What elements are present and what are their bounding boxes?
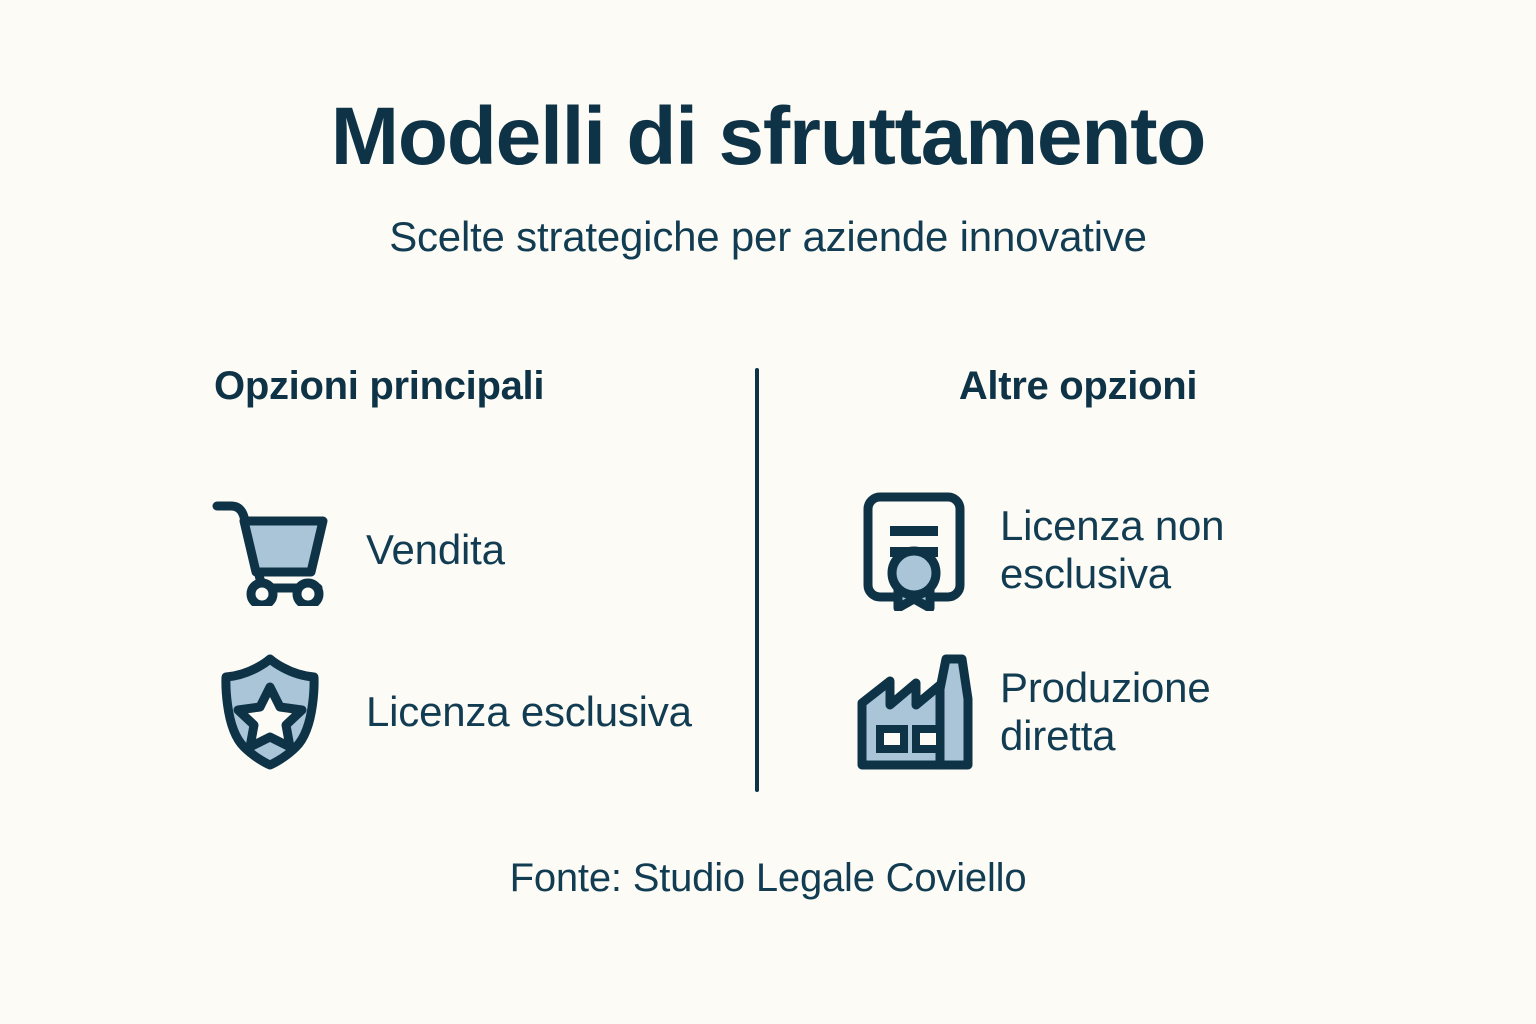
- column-opzioni-principali: Opzioni principali Vendita: [150, 366, 730, 782]
- column-heading-left: Opzioni principali: [150, 366, 730, 406]
- column-heading-right: Altre opzioni: [790, 366, 1410, 406]
- item-label-vendita: Vendita: [332, 526, 505, 574]
- source-attribution: Fonte: Studio Legale Coviello: [0, 858, 1536, 898]
- item-list-left: Vendita Licenza esclusiva: [150, 406, 730, 782]
- list-item-licenza-esclusiva: Licenza esclusiva: [208, 642, 730, 782]
- column-altre-opzioni: Altre opzioni Licenza non esclusiva: [790, 366, 1410, 782]
- columns-area: Opzioni principali Vendita: [0, 366, 1536, 794]
- list-item-vendita: Vendita: [208, 480, 730, 620]
- list-item-licenza-non-esclusiva: Licenza non esclusiva: [852, 480, 1410, 620]
- item-label-produzione-diretta: Produzione diretta: [976, 664, 1320, 760]
- infographic-poster: Modelli di sfruttamento Scelte strategic…: [0, 0, 1536, 1024]
- shopping-cart-icon: [208, 488, 332, 612]
- item-label-licenza-esclusiva: Licenza esclusiva: [332, 688, 692, 736]
- item-label-licenza-non-esclusiva: Licenza non esclusiva: [976, 502, 1320, 598]
- page-subtitle: Scelte strategiche per aziende innovativ…: [0, 178, 1536, 258]
- footer: Fonte: Studio Legale Coviello: [0, 858, 1536, 898]
- page-title: Modelli di sfruttamento: [0, 96, 1536, 178]
- shield-star-icon: [208, 650, 332, 774]
- item-list-right: Licenza non esclusiva Produzione diretta: [790, 406, 1410, 782]
- header: Modelli di sfruttamento Scelte strategic…: [0, 96, 1536, 258]
- factory-icon: [852, 650, 976, 774]
- certificate-icon: [852, 488, 976, 612]
- list-item-produzione-diretta: Produzione diretta: [852, 642, 1410, 782]
- column-divider: [755, 368, 759, 792]
